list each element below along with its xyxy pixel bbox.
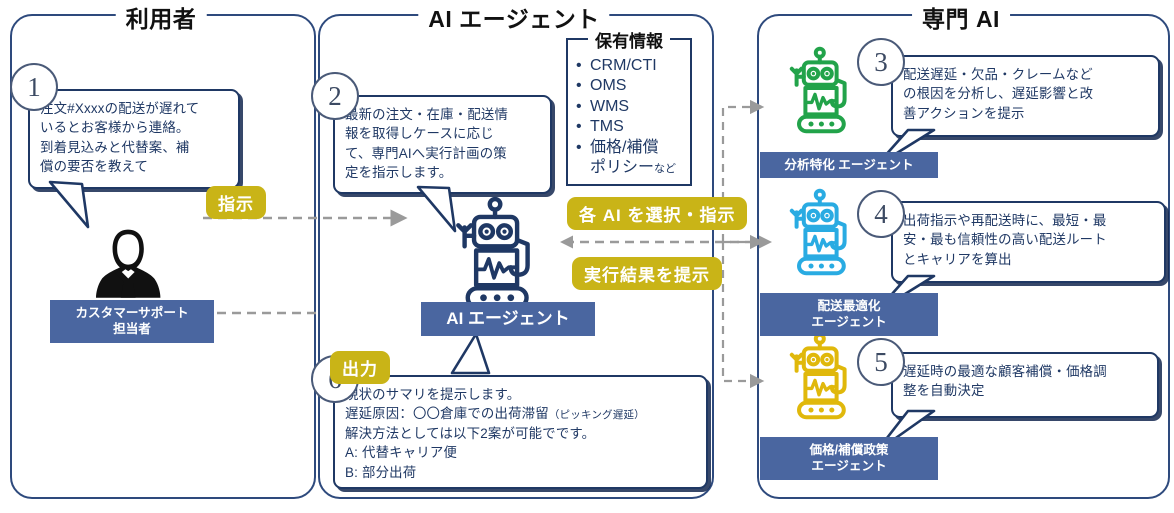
bubble-delivery-agent-text: 出荷指示や再配送時に、最短・最 安・最も信頼性の高い配送ルート とキャリアを算出 [893,203,1164,277]
summary-line-2-note: （ピッキング遅延） [549,409,645,421]
info-item: OMS [590,76,686,96]
summary-line-3: 解決方法としては以下2案が可能でです。 [345,426,595,441]
bubble-summary-text: 現状のサマリを提示します。 遅延原因：〇〇倉庫での出荷滞留（ピッキング遅延） 解… [335,377,706,490]
badge-result: 実行結果を提示 [572,257,722,290]
info-item-suffix: など [654,163,676,175]
bubble-summary: 現状のサマリを提示します。 遅延原因：〇〇倉庫での出荷滞留（ピッキング遅延） 解… [333,375,708,489]
info-item: TMS [590,117,686,137]
info-box-held-information: 保有情報 CRM/CTI OMS WMS TMS 価格/補償 ポリシーなど [566,38,692,186]
info-item: WMS [590,97,686,117]
caption-pricing-agent: 価格/補償政策 エージェント [760,437,938,480]
info-item: 価格/補償 [590,138,686,158]
summary-line-4: A: 代替キャリア便 [345,445,457,460]
badge-select-ai: 各 AI を選択・指示 [567,197,747,230]
step-number-2: 2 [311,72,359,120]
bubble-agent-plan-text: 最新の注文・在庫・配送情 報を取得しケースに応じ て、専門AIへ実行計画の策 定… [335,97,550,191]
info-item-text: ポリシー [590,159,654,176]
summary-line-5: B: 部分出荷 [345,465,416,480]
bubble-agent-plan: 最新の注文・在庫・配送情 報を取得しケースに応じ て、専門AIへ実行計画の策 定… [333,95,552,194]
info-box-title: 保有情報 [588,27,670,52]
bubble-delivery-agent: 出荷指示や再配送時に、最短・最 安・最も信頼性の高い配送ルート とキャリアを算出 [891,201,1166,283]
summary-line-1: 現状のサマリを提示します。 [345,387,520,402]
diagram-canvas: 利用者 AI エージェント 専門 AI 1 注文#Xxxxの配送が遅れて いると… [0,0,1174,513]
panel-specialist-ai-title: 専門 AI [912,0,1010,34]
step-number-5: 5 [857,338,905,386]
summary-line-2: 遅延原因：〇〇倉庫での出荷滞留 [345,406,549,421]
info-item: CRM/CTI [590,56,686,76]
caption-ai-agent: AI エージェント [421,302,595,336]
caption-analysis-agent: 分析特化 エージェント [760,152,938,178]
bubble-pricing-agent: 遅延時の最適な顧客補償・価格調 整を自動決定 [891,352,1159,418]
badge-instruction: 指示 [206,186,266,219]
caption-customer-support: カスタマーサポート 担当者 [50,300,214,343]
info-item-continuation: ポリシーなど [590,158,686,178]
step-number-3: 3 [857,38,905,86]
bubble-analysis-agent-text: 配送遅延・欠品・クレームなど の根因を分析し、遅延影響と改 善アクションを提示 [893,57,1158,131]
bubble-user-request-text: 注文#Xxxxの配送が遅れて いるとお客様から連絡。 到着見込みと代替案、補 償… [30,91,238,185]
panel-ai-agent-title: AI エージェント [418,0,609,34]
bubble-user-request: 注文#Xxxxの配送が遅れて いるとお客様から連絡。 到着見込みと代替案、補 償… [28,89,240,189]
bubble-pricing-agent-text: 遅延時の最適な顧客補償・価格調 整を自動決定 [893,354,1157,409]
bubble-analysis-agent: 配送遅延・欠品・クレームなど の根因を分析し、遅延影響と改 善アクションを提示 [891,55,1160,137]
step-number-1: 1 [10,63,58,111]
panel-user-title: 利用者 [116,0,207,34]
badge-output: 出力 [330,351,390,384]
caption-delivery-agent: 配送最適化 エージェント [760,293,938,336]
info-box-list: CRM/CTI OMS WMS TMS 価格/補償 ポリシーなど [568,40,690,183]
step-number-4: 4 [857,190,905,238]
